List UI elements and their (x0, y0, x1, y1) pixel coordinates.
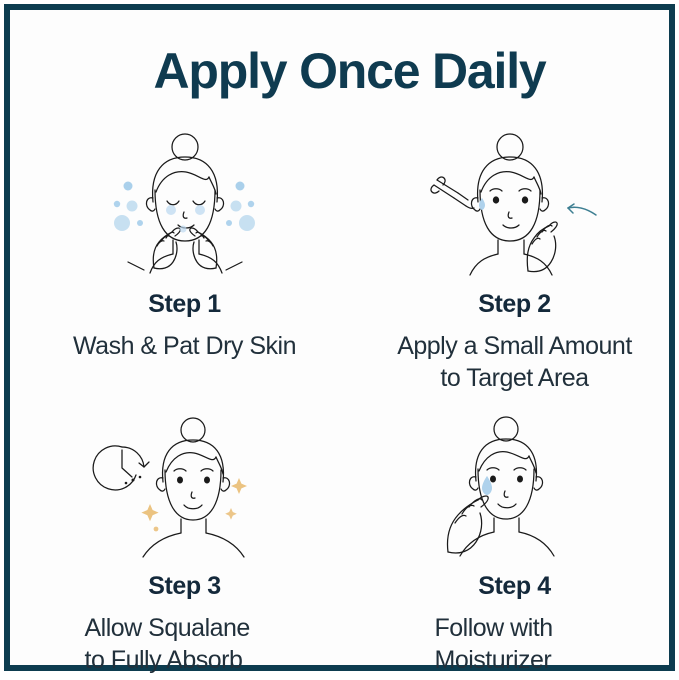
step-card-1: Step 1 Wash & Pat Dry Skin (20, 120, 349, 390)
clock-hands (122, 450, 132, 477)
step-2-label: Step 2 (350, 292, 679, 317)
poster: Apply Once Daily (0, 0, 679, 679)
step-4-description: Follow with Moisturizer (435, 612, 595, 676)
bubbles-decoration (113, 182, 254, 233)
step-4-illustration-wrap (350, 402, 679, 560)
step-1-desc-line-1: Wash & Pat Dry Skin (20, 330, 349, 362)
poster-inner: Apply Once Daily (20, 20, 679, 675)
clock-dial (93, 446, 136, 490)
step-2-desc-line-2: to Target Area (350, 362, 679, 394)
step-4-desc-line-1: Follow with (435, 612, 595, 644)
step-4-label: Step 4 (350, 574, 679, 599)
step-2-desc-line-1: Apply a Small Amount (350, 330, 679, 362)
clock-absorb-icon (70, 412, 290, 560)
step-3-illustration-wrap (20, 402, 349, 560)
step-1-illustration-wrap (20, 120, 349, 278)
direction-arrow (568, 204, 596, 215)
step-card-4: Step 4 Follow with Moisturizer (350, 402, 679, 672)
step-1-label: Step 1 (20, 292, 349, 317)
steps-grid: Step 1 Wash & Pat Dry Skin (20, 120, 679, 680)
step-3-description: Allow Squalane to Fully Absorb (85, 612, 285, 676)
step-card-2: Step 2 Apply a Small Amount to Target Ar… (350, 120, 679, 390)
step-2-description: Apply a Small Amount to Target Area (350, 330, 679, 394)
step-1-description: Wash & Pat Dry Skin (20, 330, 349, 362)
face-washing-icon (70, 128, 300, 278)
step-4-desc-line-2: Moisturizer (435, 644, 595, 676)
moisturizer-icon (402, 412, 602, 560)
step-card-3: Step 3 Allow Squalane to Fully Absorb (20, 402, 349, 672)
page-title: Apply Once Daily (20, 46, 679, 96)
dropper-application-icon (410, 128, 620, 278)
poster-frame: Apply Once Daily (4, 4, 675, 671)
step-3-label: Step 3 (20, 574, 349, 599)
step-3-desc-line-2: to Fully Absorb (85, 644, 285, 676)
step-2-illustration-wrap (350, 120, 679, 278)
step-3-desc-line-1: Allow Squalane (85, 612, 285, 644)
